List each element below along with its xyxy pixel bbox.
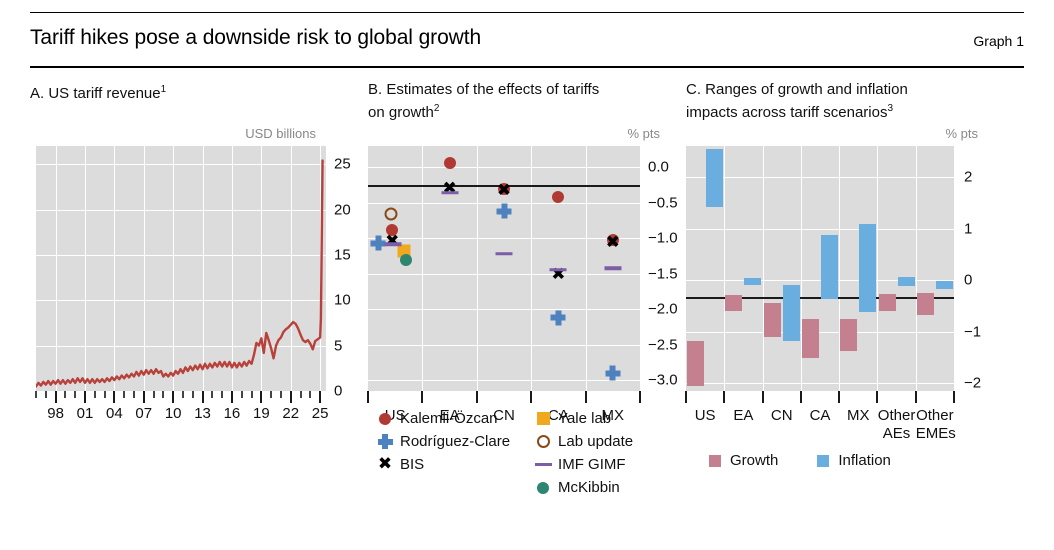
panel-a-minor-tick xyxy=(211,391,213,398)
gridline-v xyxy=(422,146,423,391)
panel-a: A. US tariff revenue1 USD billions 05101… xyxy=(30,80,330,103)
legend-label: BIS xyxy=(400,456,424,473)
panel-c-range-bar xyxy=(898,277,915,286)
panel-a-minor-tick xyxy=(241,391,243,398)
legend-marker-icon xyxy=(532,463,554,467)
legend-marker-icon: ✖ xyxy=(374,456,396,473)
gridline-v xyxy=(586,146,587,391)
panel-b-point xyxy=(552,191,564,203)
panel-b-ytick-label: −1.0 xyxy=(648,230,678,247)
panel-a-xtick-label: 16 xyxy=(224,405,241,422)
panel-b-ytick-label: −2.5 xyxy=(648,336,678,353)
panel-a-xtick-label: 04 xyxy=(106,405,123,422)
panel-a-minor-tick xyxy=(309,391,311,398)
panel-b-tick xyxy=(421,391,423,403)
panel-a-minor-tick xyxy=(280,391,282,398)
panel-a-ytick-label: 5 xyxy=(334,337,342,354)
panel-a-line-series xyxy=(36,146,326,391)
panel-c-tick xyxy=(915,391,917,403)
gridline-h xyxy=(368,167,640,168)
gridline-v xyxy=(877,146,878,391)
panel-b-tick xyxy=(476,391,478,403)
panel-b-legend-col-1: Kalemli-ÖzcanRodríguez-Clare✖BIS xyxy=(374,410,510,502)
panel-b-point xyxy=(441,191,458,195)
legend-label: Yale lab xyxy=(558,410,611,427)
gridline-h xyxy=(686,332,954,333)
gridline-h xyxy=(368,309,640,310)
panel-a-xtick-label: 22 xyxy=(282,405,299,422)
legend-item: McKibbin xyxy=(532,479,633,496)
panel-a-xtick-label: 98 xyxy=(47,405,64,422)
panel-c-tick xyxy=(876,391,878,403)
legend-marker-icon xyxy=(704,455,726,467)
panel-b-point xyxy=(385,242,402,246)
panel-a-major-tick xyxy=(202,391,204,403)
panel-c-range-bar xyxy=(687,341,704,386)
panel-a-minor-tick xyxy=(192,391,194,398)
legend-item: IMF GIMF xyxy=(532,456,633,473)
panel-a-ytick-label: 0 xyxy=(334,383,342,400)
panel-c-tick xyxy=(723,391,725,403)
header-rule-bottom xyxy=(30,66,1024,68)
panel-a-minor-tick xyxy=(35,391,37,398)
panel-a-ytick-label: 20 xyxy=(334,201,351,218)
panel-a-minor-tick xyxy=(182,391,184,398)
panel-a-minor-tick xyxy=(74,391,76,398)
panel-b-point xyxy=(497,204,512,219)
panel-c-unit: % pts xyxy=(945,126,978,141)
panel-a-major-tick xyxy=(84,391,86,403)
panel-a-minor-tick xyxy=(64,391,66,398)
legend-label: Kalemli-Özcan xyxy=(400,410,498,427)
panel-b-ytick-label: −2.0 xyxy=(648,301,678,318)
page-title: Tariff hikes pose a downside risk to glo… xyxy=(30,26,481,50)
panel-c-range-bar xyxy=(879,294,896,312)
panel-b-point xyxy=(385,208,398,221)
panel-c-range-bar xyxy=(936,281,953,289)
panel-c-range-bar xyxy=(783,285,800,341)
legend-item: Lab update xyxy=(532,433,633,450)
panel-b-ytick-label: −0.5 xyxy=(648,194,678,211)
panel-b-point: ✖ xyxy=(497,183,511,200)
panel-c-xtick-label-mx: MX xyxy=(839,407,877,425)
legend-marker-icon xyxy=(374,413,396,425)
legend-label: Rodríguez-Clare xyxy=(400,433,510,450)
panel-a-major-tick xyxy=(290,391,292,403)
gridline-h xyxy=(368,345,640,346)
panel-c-range-bar xyxy=(744,278,761,286)
gridline-v xyxy=(477,146,478,391)
panel-a-major-tick xyxy=(260,391,262,403)
panel-c-ytick-label: −2 xyxy=(964,375,981,392)
panel-b-ytick-label: −1.5 xyxy=(648,265,678,282)
legend-label: Lab update xyxy=(558,433,633,450)
legend-item: ✖BIS xyxy=(374,456,510,473)
panel-a-plot xyxy=(36,146,326,391)
panel-a-minor-tick xyxy=(133,391,135,398)
panel-b-ytick-label: −3.0 xyxy=(648,372,678,389)
panel-c-xtick-label-cn: CN xyxy=(763,407,801,425)
panel-a-ytick-label: 15 xyxy=(334,246,351,263)
panel-c-ytick-label: −1 xyxy=(964,323,981,340)
gridline-v xyxy=(724,146,725,391)
legend-item: Rodríguez-Clare xyxy=(374,433,510,450)
panel-c-title: C. Ranges of growth and inflation impact… xyxy=(686,80,986,122)
panel-c-plot xyxy=(686,146,954,391)
gridline-h xyxy=(686,177,954,178)
panel-b-point xyxy=(496,252,513,256)
panel-b-title: B. Estimates of the effects of tariffs o… xyxy=(368,80,668,122)
panel-c-range-bar xyxy=(821,235,838,299)
legend-item: Yale lab xyxy=(532,410,633,427)
panel-a-minor-tick xyxy=(251,391,253,398)
panel-a-xtick-label: 07 xyxy=(135,405,152,422)
panel-a-minor-tick xyxy=(94,391,96,398)
panel-c-range-bar xyxy=(917,293,934,315)
panel-c-legend: GrowthInflation xyxy=(704,452,891,469)
panel-c-xtick-label-ea: EA xyxy=(724,407,762,425)
legend-marker-icon xyxy=(532,482,554,494)
gridline-v xyxy=(763,146,764,391)
panel-a-minor-tick xyxy=(104,391,106,398)
legend-label: Growth xyxy=(730,452,778,469)
panel-a-xtick-label: 25 xyxy=(312,405,329,422)
panel-a-minor-tick xyxy=(162,391,164,398)
graph-page: Tariff hikes pose a downside risk to glo… xyxy=(0,0,1054,550)
header-rule-top xyxy=(30,12,1024,13)
panel-a-ytick-label: 25 xyxy=(334,156,351,173)
legend-item: Inflation xyxy=(812,452,891,469)
gridline-h xyxy=(368,274,640,275)
panel-a-minor-tick xyxy=(123,391,125,398)
panel-c-tick xyxy=(685,391,687,403)
gridline-h xyxy=(686,229,954,230)
panel-a-title: A. US tariff revenue1 xyxy=(30,80,330,103)
panel-c-tick xyxy=(838,391,840,403)
panel-c: C. Ranges of growth and inflation impact… xyxy=(686,80,986,122)
gridline-h xyxy=(368,380,640,381)
panel-c-xtick-label-ca: CA xyxy=(801,407,839,425)
legend-label: IMF GIMF xyxy=(558,456,626,473)
panel-c-range-bar xyxy=(764,303,781,337)
panel-b-point xyxy=(605,366,620,381)
panel-b-point xyxy=(550,268,567,272)
panel-c-tick xyxy=(953,391,955,403)
panel-b-plot: ✖✖✖✖✖ xyxy=(368,146,640,391)
panel-b-legend: Kalemli-ÖzcanRodríguez-Clare✖BISYale lab… xyxy=(374,410,633,502)
panel-c-ytick-label: 2 xyxy=(964,168,972,185)
panel-a-minor-tick xyxy=(45,391,47,398)
panel-b-point xyxy=(551,310,566,325)
panel-a-minor-tick xyxy=(221,391,223,398)
panel-a-major-tick xyxy=(143,391,145,403)
panel-b-ytick-label: 0.0 xyxy=(648,159,669,176)
legend-label: McKibbin xyxy=(558,479,620,496)
legend-label: Inflation xyxy=(838,452,891,469)
panel-a-unit: USD billions xyxy=(245,126,316,141)
panel-c-ytick-label: 0 xyxy=(964,272,972,289)
panel-c-tick xyxy=(800,391,802,403)
panel-a-major-tick xyxy=(113,391,115,403)
panel-a-minor-tick xyxy=(153,391,155,398)
panel-a-major-tick xyxy=(55,391,57,403)
panel-a-xtick-label: 19 xyxy=(253,405,270,422)
gridline-v xyxy=(839,146,840,391)
panel-a-minor-tick xyxy=(300,391,302,398)
panel-b-point: ✖ xyxy=(606,234,620,251)
panel-a-xtick-label: 01 xyxy=(77,405,94,422)
panel-b-point: ✖ xyxy=(442,181,456,198)
panel-a-major-tick xyxy=(172,391,174,403)
panel-b-point xyxy=(400,254,412,266)
panel-b-unit: % pts xyxy=(627,126,660,141)
panel-b: B. Estimates of the effects of tariffs o… xyxy=(368,80,668,122)
panel-c-range-bar xyxy=(859,224,876,312)
panel-a-major-tick xyxy=(319,391,321,403)
panel-b-tick xyxy=(639,391,641,403)
gridline-h xyxy=(368,238,640,239)
gridline-v xyxy=(916,146,917,391)
panel-c-xtick-label-other-emes: Other EMEs xyxy=(916,407,954,443)
legend-marker-icon xyxy=(374,434,396,449)
graph-number: Graph 1 xyxy=(973,33,1024,49)
panel-a-ytick-label: 10 xyxy=(334,292,351,309)
panel-b-point xyxy=(444,157,456,169)
panel-b-point xyxy=(371,236,386,251)
panel-a-xtick-label: 13 xyxy=(194,405,211,422)
panel-b-tick xyxy=(585,391,587,403)
panel-a-xtick-label: 10 xyxy=(165,405,182,422)
legend-marker-icon xyxy=(812,455,834,467)
panel-c-xtick-label-other-aes: Other AEs xyxy=(877,407,915,443)
panel-c-range-bar xyxy=(725,295,742,312)
gridline-v xyxy=(531,146,532,391)
panel-c-tick xyxy=(762,391,764,403)
panel-c-ytick-label: 1 xyxy=(964,220,972,237)
panel-b-tick xyxy=(530,391,532,403)
panel-b-tick xyxy=(367,391,369,403)
panel-a-minor-tick xyxy=(270,391,272,398)
legend-item: Kalemli-Özcan xyxy=(374,410,510,427)
legend-item: Growth xyxy=(704,452,778,469)
panel-c-range-bar xyxy=(706,149,723,207)
panel-c-xtick-label-us: US xyxy=(686,407,724,425)
panel-c-range-bar xyxy=(802,319,819,359)
legend-marker-icon xyxy=(532,435,554,448)
panel-b-legend-col-2: Yale labLab updateIMF GIMFMcKibbin xyxy=(532,410,633,502)
panel-c-range-bar xyxy=(840,319,857,351)
panel-a-major-tick xyxy=(231,391,233,403)
gridline-h xyxy=(686,383,954,384)
panel-b-point xyxy=(604,266,621,270)
legend-marker-icon xyxy=(532,412,554,425)
